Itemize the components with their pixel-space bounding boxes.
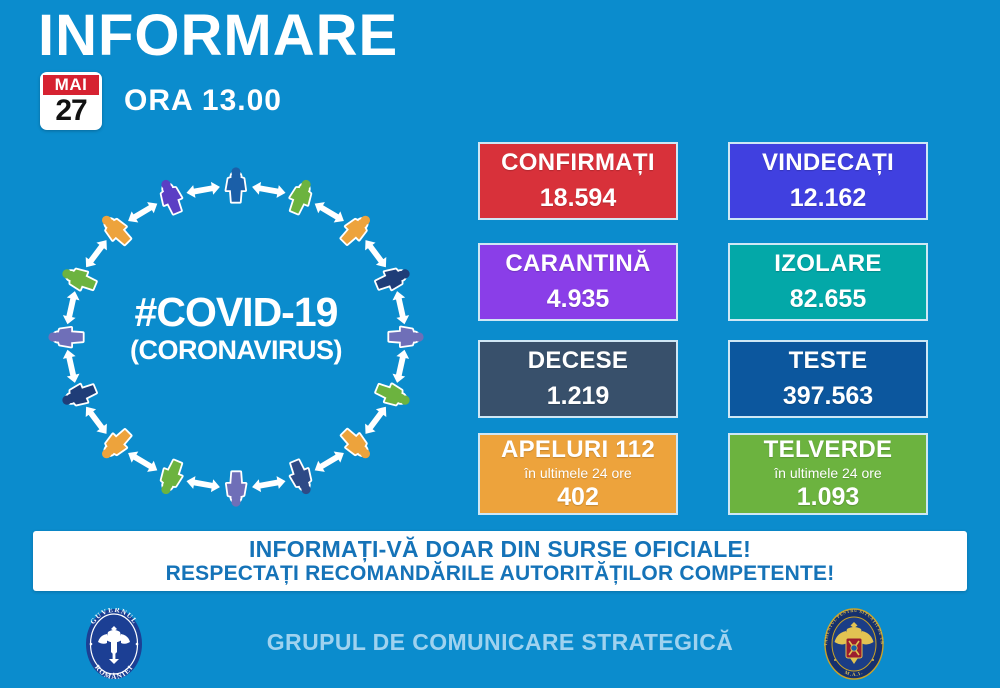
stat-box-teste: TESTE 397.563: [728, 340, 928, 418]
double-arrow-icon: [391, 290, 411, 326]
stat-label-teste: TESTE: [789, 347, 868, 375]
stat-value-apeluri: 402: [557, 483, 599, 512]
double-arrow-icon: [251, 181, 287, 200]
calendar-icon: MAI 27: [40, 72, 102, 130]
stat-label-confirmati: CONFIRMAȚI: [501, 149, 655, 177]
guvernul-romaniei-logo: GUVERNUL ROMÂNIEI: [78, 608, 150, 680]
stat-label-vindecati: VINDECAȚI: [762, 149, 894, 177]
stat-value-decese: 1.219: [547, 382, 610, 411]
covid-people-circle-graphic: #COVID-19 (CORONAVIRUS): [36, 162, 436, 512]
person-icon: [59, 380, 98, 411]
stat-sub-telverde: în ultimele 24 ore: [774, 465, 881, 481]
double-arrow-icon: [125, 447, 161, 476]
person-icon: [48, 328, 82, 347]
stat-box-carantina: CARANTINĂ 4.935: [478, 243, 678, 321]
double-arrow-icon: [391, 348, 411, 384]
double-arrow-icon: [185, 475, 221, 494]
stat-value-vindecati: 12.162: [790, 184, 866, 213]
person-icon: [226, 167, 245, 201]
double-arrow-icon: [311, 447, 347, 476]
stat-label-apeluri: APELURI 112: [501, 436, 655, 464]
person-icon: [59, 264, 98, 295]
stat-label-telverde: TELVERDE: [764, 436, 893, 464]
banner-line-2: RESPECTAȚI RECOMANDĂRILE AUTORITĂȚILOR C…: [166, 562, 835, 586]
stat-box-confirmati: CONFIRMAȚI 18.594: [478, 142, 678, 220]
dsu-mai-logo: DEPARTAMENTUL PENTRU SITUAȚII DE URGENȚĂ…: [818, 608, 890, 680]
infographic-page: INFORMARE MAI 27 ORA 13.00 #COVID-19 (CO…: [0, 0, 1000, 688]
stat-box-vindecati: VINDECAȚI 12.162: [728, 142, 928, 220]
stat-label-carantina: CARANTINĂ: [505, 250, 650, 278]
stat-label-decese: DECESE: [528, 347, 629, 375]
person-icon: [286, 458, 317, 497]
person-icon: [389, 327, 423, 346]
date-row: MAI 27 ORA 13.00: [40, 72, 282, 130]
stat-box-telverde: TELVERDE în ultimele 24 ore 1.093: [728, 433, 928, 515]
double-arrow-icon: [311, 198, 347, 227]
stat-value-telverde: 1.093: [797, 483, 860, 512]
person-icon: [227, 472, 246, 506]
stat-value-confirmati: 18.594: [540, 184, 616, 213]
person-icon: [374, 380, 413, 411]
double-arrow-icon: [360, 403, 391, 438]
person-icon: [156, 458, 187, 497]
calendar-month-label: MAI: [43, 75, 99, 95]
person-icon: [374, 263, 413, 294]
double-arrow-icon: [61, 290, 81, 326]
stat-value-carantina: 4.935: [547, 285, 610, 314]
double-arrow-icon: [81, 403, 112, 438]
person-icon: [286, 177, 317, 216]
double-arrow-icon: [81, 236, 112, 271]
double-arrow-icon: [251, 475, 287, 494]
banner-line-1: INFORMAȚI-VĂ DOAR DIN SURSE OFICIALE!: [249, 536, 751, 562]
stat-box-izolare: IZOLARE 82.655: [728, 243, 928, 321]
calendar-day-label: 27: [43, 95, 99, 127]
stat-sub-apeluri: în ultimele 24 ore: [524, 465, 631, 481]
hour-label: ORA 13.00: [124, 84, 282, 118]
stat-label-izolare: IZOLARE: [774, 250, 881, 278]
double-arrow-icon: [125, 198, 161, 227]
official-sources-banner: INFORMAȚI-VĂ DOAR DIN SURSE OFICIALE! RE…: [33, 531, 967, 591]
stat-value-izolare: 82.655: [790, 285, 866, 314]
double-arrow-icon: [61, 348, 81, 384]
page-title: INFORMARE: [38, 4, 398, 68]
stat-box-decese: DECESE 1.219: [478, 340, 678, 418]
double-arrow-icon: [360, 236, 391, 271]
stat-box-apeluri: APELURI 112 în ultimele 24 ore 402: [478, 433, 678, 515]
stat-value-teste: 397.563: [783, 382, 873, 411]
footer: GRUPUL DE COMUNICARE STRATEGICĂ GUVERNUL…: [0, 596, 1000, 688]
people-ring: [48, 167, 423, 506]
person-icon: [155, 177, 186, 216]
double-arrow-icon: [185, 181, 221, 200]
